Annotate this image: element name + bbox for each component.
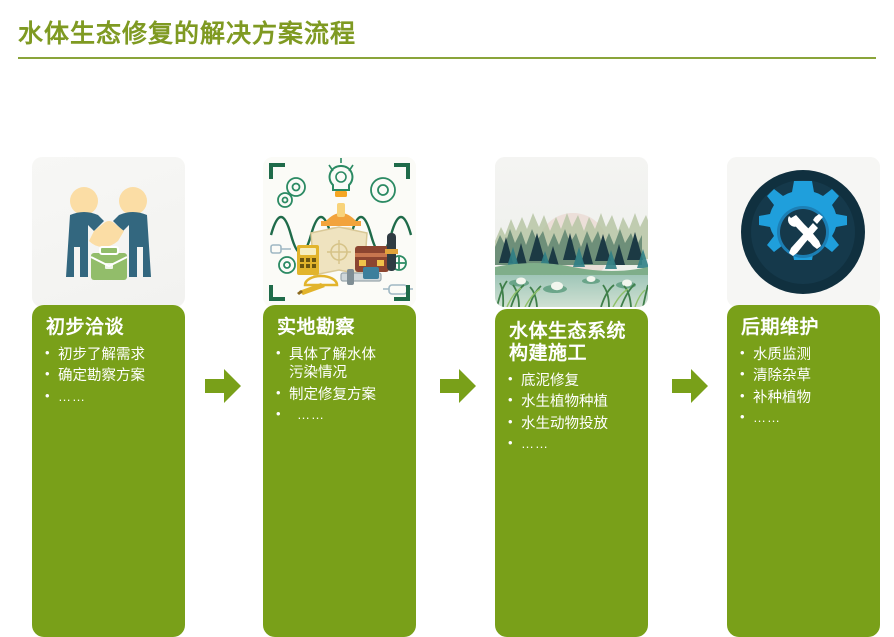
corner-bracket-icon xyxy=(394,163,410,179)
card-title-3: 水体生态系统构建施工 xyxy=(509,321,638,365)
lake-forest-illustration xyxy=(495,157,648,307)
list-item: 补种植物 xyxy=(739,389,870,408)
card-bullets-1: 初步了解需求 确定勘察方案 …… xyxy=(44,346,175,406)
list-item: …… xyxy=(507,436,638,453)
list-item: 制定修复方案 xyxy=(275,386,406,405)
list-item: 具体了解水体 污染情况 xyxy=(275,346,406,383)
list-item: 水生植物种植 xyxy=(507,393,638,412)
card-title-2: 实地勘察 xyxy=(277,317,406,339)
card-body-1: 初步洽谈 初步了解需求 确定勘察方案 …… xyxy=(32,305,185,637)
arrow-right-icon-3 xyxy=(672,369,708,403)
card-title-4: 后期维护 xyxy=(741,317,870,339)
card-bullets-2: 具体了解水体 污染情况 制定修复方案 …… xyxy=(275,346,406,424)
arrow-right-icon-2 xyxy=(440,369,476,403)
corner-bracket-icon xyxy=(269,163,285,179)
card-body-2: 实地勘察 具体了解水体 污染情况 制定修复方案 …… xyxy=(263,305,416,637)
gear-tools-icon xyxy=(727,157,880,307)
list-item: 水生动物投放 xyxy=(507,415,638,434)
corner-bracket-icon xyxy=(269,285,285,301)
card-bullets-4: 水质监测 清除杂草 补种植物 …… xyxy=(739,346,870,427)
list-item: 底泥修复 xyxy=(507,372,638,391)
page-header: 水体生态修复的解决方案流程 xyxy=(0,0,894,64)
card-body-4: 后期维护 水质监测 清除杂草 补种植物 …… xyxy=(727,305,880,637)
handshake-illustration xyxy=(32,157,185,307)
list-item: 确定勘察方案 xyxy=(44,367,175,386)
card-body-3: 水体生态系统构建施工 底泥修复 水生植物种植 水生动物投放 …… xyxy=(495,309,648,637)
arrow-right-icon-1 xyxy=(205,369,241,403)
list-item: 清除杂草 xyxy=(739,367,870,386)
list-item: …… xyxy=(739,410,870,427)
list-item: …… xyxy=(275,407,406,424)
page-title: 水体生态修复的解决方案流程 xyxy=(18,14,356,50)
card-bullets-3: 底泥修复 水生植物种植 水生动物投放 …… xyxy=(507,372,638,453)
list-item: 水质监测 xyxy=(739,346,870,365)
card-title-1: 初步洽谈 xyxy=(46,317,175,339)
list-item: 初步了解需求 xyxy=(44,346,175,365)
list-item: …… xyxy=(44,389,175,406)
site-survey-illustration xyxy=(263,157,416,307)
title-divider xyxy=(18,57,876,59)
corner-bracket-icon xyxy=(394,285,410,301)
